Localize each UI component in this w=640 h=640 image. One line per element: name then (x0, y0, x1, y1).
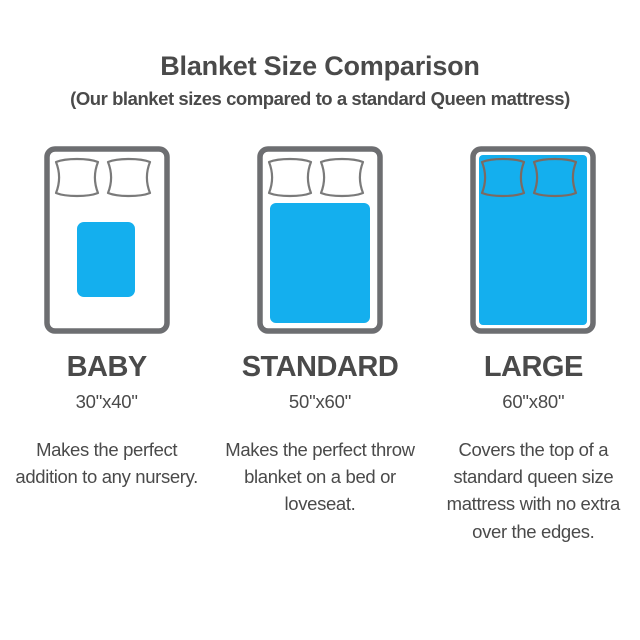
bed-diagram-large (470, 145, 596, 335)
size-name-standard: STANDARD (242, 353, 399, 382)
size-description-standard: Makes the perfect throw blanket on a bed… (225, 436, 415, 518)
size-name-baby: BABY (67, 353, 147, 382)
size-dimensions-baby: 30"x40" (76, 393, 138, 412)
pillow-right-icon (108, 159, 150, 196)
pillow-left-icon (56, 159, 98, 196)
size-dimensions-large: 60"x80" (502, 393, 564, 412)
size-dimensions-standard: 50"x60" (289, 393, 351, 412)
blanket-overlay-baby (77, 222, 135, 297)
blanket-overlay-large (479, 155, 587, 325)
page-title: Blanket Size Comparison (0, 52, 640, 81)
bed-diagram-standard (257, 145, 383, 335)
size-name-large: LARGE (484, 353, 583, 382)
blanket-size-comparison-infographic: Blanket Size Comparison (Our blanket siz… (0, 0, 640, 640)
size-comparison-columns: BABY 30"x40" Makes the perfect addition … (0, 145, 640, 545)
pillow-left-icon (269, 159, 311, 196)
page-subtitle: (Our blanket sizes compared to a standar… (0, 87, 640, 110)
size-description-large: Covers the top of a standard queen size … (438, 436, 628, 546)
pillow-right-icon (321, 159, 363, 196)
header: Blanket Size Comparison (Our blanket siz… (0, 52, 640, 110)
blanket-overlay-standard (270, 203, 370, 323)
size-column-large: LARGE 60"x80" Covers the top of a standa… (427, 145, 640, 545)
size-column-baby: BABY 30"x40" Makes the perfect addition … (0, 145, 213, 545)
size-description-baby: Makes the perfect addition to any nurser… (12, 436, 202, 491)
size-column-standard: STANDARD 50"x60" Makes the perfect throw… (213, 145, 426, 545)
bed-diagram-baby (44, 145, 170, 335)
